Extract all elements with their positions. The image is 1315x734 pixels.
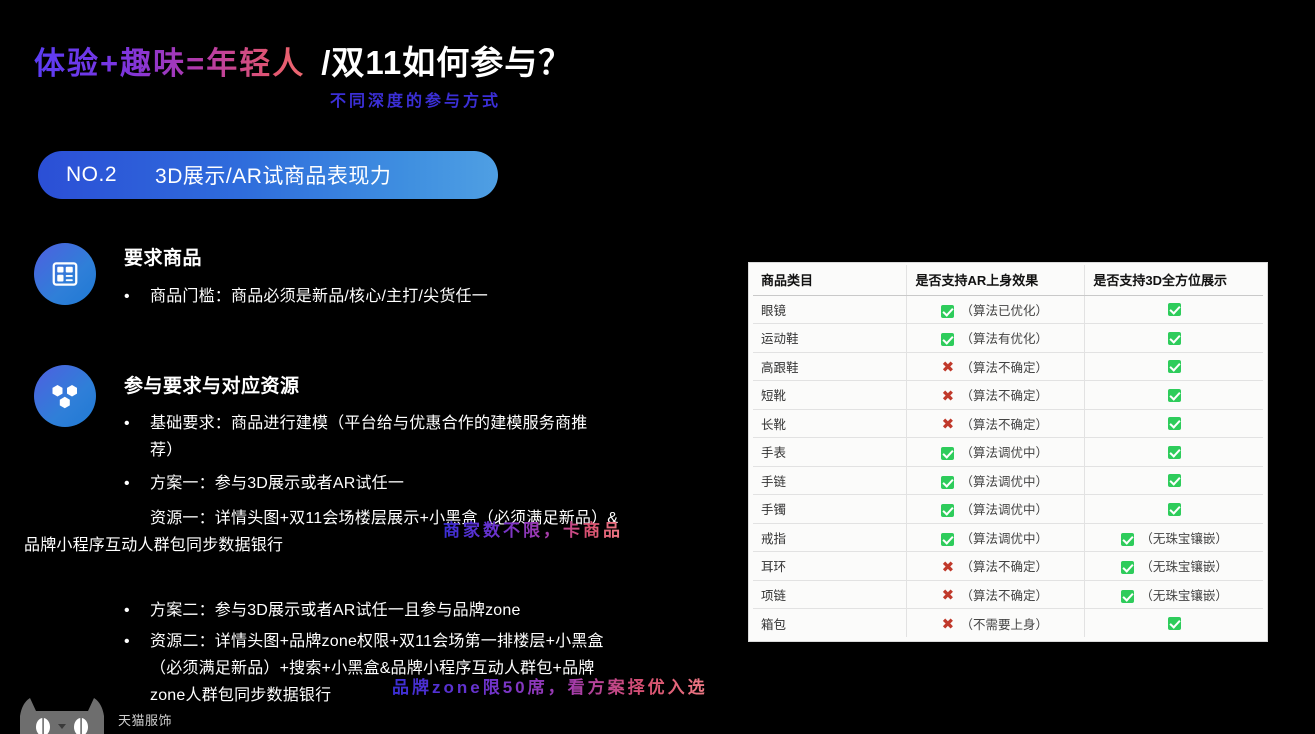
title-accent: 体验+趣味=年轻人: [34, 38, 305, 83]
cell-ar-note: （算法调优中）: [960, 532, 1048, 546]
cell-ar-support: （算法不确定）: [907, 580, 1085, 609]
check-icon: [941, 305, 954, 318]
badge-number: NO.2: [66, 163, 117, 187]
cell-3d-support: [1085, 609, 1263, 638]
table-row: 运动鞋（算法有优化）: [753, 324, 1263, 353]
bullet-text: 方案二：参与3D展示或者AR试任一且参与品牌zone: [150, 597, 744, 624]
th-ar-support: 是否支持AR上身效果: [907, 265, 1085, 295]
check-icon: [1168, 446, 1181, 459]
cross-icon: [941, 361, 954, 375]
page-title: 体验+趣味=年轻人 /双11如何参与？: [34, 36, 572, 84]
hexagon-cluster-icon: [34, 365, 96, 427]
check-icon: [1121, 590, 1134, 603]
cell-ar-support: （算法有优化）: [907, 324, 1085, 353]
check-icon: [1168, 360, 1181, 373]
cell-ar-note: （算法不确定）: [960, 361, 1048, 375]
cell-ar-note: （算法不确定）: [960, 560, 1048, 574]
section-title-1: 要求商品: [124, 243, 202, 270]
cross-icon: [941, 390, 954, 404]
cell-ar-support: （算法调优中）: [907, 438, 1085, 467]
cell-ar-note: （算法已优化）: [960, 304, 1048, 318]
resource-one-line-2: 品牌小程序互动人群包同步数据银行: [24, 532, 283, 559]
cell-category: 短靴: [753, 381, 907, 410]
cell-category: 手链: [753, 466, 907, 495]
bullet-text: 基础要求：商品进行建模（平台给与优惠合作的建模服务商推: [150, 410, 724, 437]
cell-ar-support: （算法不确定）: [907, 352, 1085, 381]
bullet-item: • 商品门槛：商品必须是新品/核心/主打/尖货任一: [124, 283, 744, 310]
slide-root: 体验+趣味=年轻人 /双11如何参与？ 不同深度的参与方式 NO.2 3D展示/…: [0, 0, 1315, 734]
bullet-text: 方案一：参与3D展示或者AR试任一: [150, 470, 724, 497]
cell-ar-support: （算法调优中）: [907, 523, 1085, 552]
support-table: 商品类目 是否支持AR上身效果 是否支持3D全方位展示 眼镜（算法已优化）运动鞋…: [753, 265, 1263, 637]
bullet-text: 资源二：详情头图+品牌zone权限+双11会场第一排楼层+小黑盒: [150, 628, 744, 655]
cell-category: 高跟鞋: [753, 352, 907, 381]
check-icon: [1121, 561, 1134, 574]
cell-3d-support: [1085, 438, 1263, 467]
cell-category: 眼镜: [753, 295, 907, 324]
cell-ar-note: （算法调优中）: [960, 503, 1048, 517]
check-icon: [1168, 503, 1181, 516]
cell-category: 项链: [753, 580, 907, 609]
cell-ar-note: （算法有优化）: [960, 332, 1048, 346]
cell-3d-support: [1085, 324, 1263, 353]
table-body: 眼镜（算法已优化）运动鞋（算法有优化）高跟鞋（算法不确定）短靴（算法不确定）长靴…: [753, 295, 1263, 637]
table-row: 长靴（算法不确定）: [753, 409, 1263, 438]
cell-ar-note: （算法调优中）: [960, 446, 1048, 460]
cell-ar-support: （算法已优化）: [907, 295, 1085, 324]
check-icon: [941, 476, 954, 489]
table-header: 商品类目 是否支持AR上身效果 是否支持3D全方位展示: [753, 265, 1263, 295]
cell-3d-support: [1085, 466, 1263, 495]
table-row: 手链（算法调优中）: [753, 466, 1263, 495]
bullet-dot: •: [124, 628, 150, 655]
cell-3d-support: [1085, 409, 1263, 438]
bullet-dot: •: [124, 283, 150, 310]
bullet-dot: •: [124, 410, 150, 437]
check-icon: [941, 333, 954, 346]
table-row: 短靴（算法不确定）: [753, 381, 1263, 410]
cell-3d-support: （无珠宝镶嵌）: [1085, 523, 1263, 552]
table-row: 项链（算法不确定）（无珠宝镶嵌）: [753, 580, 1263, 609]
cell-3d-support: [1085, 352, 1263, 381]
cell-ar-note: （算法调优中）: [960, 475, 1048, 489]
ar-3d-support-table: 商品类目 是否支持AR上身效果 是否支持3D全方位展示 眼镜（算法已优化）运动鞋…: [748, 262, 1268, 642]
table-row: 戒指（算法调优中）（无珠宝镶嵌）: [753, 523, 1263, 552]
cell-category: 手镯: [753, 495, 907, 524]
check-icon: [1168, 389, 1181, 402]
title-main: /双11如何参与？: [321, 36, 572, 84]
check-icon: [1121, 533, 1134, 546]
bullet-text: 商品门槛：商品必须是新品/核心/主打/尖货任一: [150, 283, 744, 310]
cell-ar-note: （算法不确定）: [960, 389, 1048, 403]
resource-two-line-3: zone人群包同步数据银行: [150, 682, 331, 709]
check-icon: [1168, 474, 1181, 487]
check-icon: [941, 447, 954, 460]
cell-ar-note: （算法不确定）: [960, 418, 1048, 432]
cell-3d-support: [1085, 381, 1263, 410]
check-icon: [1168, 617, 1181, 630]
cell-3d-support: （无珠宝镶嵌）: [1085, 580, 1263, 609]
section-title-2: 参与要求与对应资源: [124, 371, 300, 398]
table-header-row: 商品类目 是否支持AR上身效果 是否支持3D全方位展示: [753, 265, 1263, 295]
check-icon: [941, 504, 954, 517]
cell-category: 箱包: [753, 609, 907, 638]
cell-3d-support: [1085, 495, 1263, 524]
check-icon: [1168, 332, 1181, 345]
tmall-cat-logo: [14, 694, 110, 734]
layout-dashboard-icon: [34, 243, 96, 305]
overlay-note-1: 商家数不限，卡商品: [443, 516, 623, 541]
table-row: 手镯（算法调优中）: [753, 495, 1263, 524]
table-row: 耳环（算法不确定）（无珠宝镶嵌）: [753, 552, 1263, 581]
cross-icon: [941, 618, 954, 632]
cell-3d-note: （无珠宝镶嵌）: [1140, 532, 1228, 546]
bullet-item: • 方案一：参与3D展示或者AR试任一: [124, 470, 724, 497]
cross-icon: [941, 418, 954, 432]
th-category: 商品类目: [753, 265, 907, 295]
cell-ar-note: （不需要上身）: [960, 618, 1048, 632]
bullet-item: • 方案二：参与3D展示或者AR试任一且参与品牌zone: [124, 597, 744, 624]
bullet-continuation: 荐）: [150, 437, 182, 464]
cell-category: 耳环: [753, 552, 907, 581]
bullet-dot: •: [124, 597, 150, 624]
table-row: 高跟鞋（算法不确定）: [753, 352, 1263, 381]
overlay-note-2: 品牌zone限50席，看方案择优入选: [392, 673, 708, 698]
cell-ar-support: （算法不确定）: [907, 409, 1085, 438]
cell-ar-support: （算法不确定）: [907, 552, 1085, 581]
cell-3d-note: （无珠宝镶嵌）: [1140, 589, 1228, 603]
footer-label: 天猫服饰: [118, 710, 172, 729]
cell-3d-support: （无珠宝镶嵌）: [1085, 552, 1263, 581]
cell-3d-support: [1085, 295, 1263, 324]
footer: 天猫服饰: [14, 694, 172, 734]
cell-category: 长靴: [753, 409, 907, 438]
cross-icon: [941, 589, 954, 603]
cell-ar-support: （算法调优中）: [907, 466, 1085, 495]
th-3d-support: 是否支持3D全方位展示: [1085, 265, 1263, 295]
bullet-item: • 资源二：详情头图+品牌zone权限+双11会场第一排楼层+小黑盒: [124, 628, 744, 655]
cell-ar-support: （算法不确定）: [907, 381, 1085, 410]
cell-ar-note: （算法不确定）: [960, 589, 1048, 603]
cell-category: 戒指: [753, 523, 907, 552]
bullet-item: • 基础要求：商品进行建模（平台给与优惠合作的建模服务商推: [124, 410, 724, 437]
cell-category: 运动鞋: [753, 324, 907, 353]
table-row: 箱包（不需要上身）: [753, 609, 1263, 638]
check-icon: [1168, 417, 1181, 430]
check-icon: [941, 533, 954, 546]
cell-ar-support: （不需要上身）: [907, 609, 1085, 638]
bullet-dot: •: [124, 470, 150, 497]
badge-label: 3D展示/AR试商品表现力: [155, 160, 391, 190]
cell-category: 手表: [753, 438, 907, 467]
cell-3d-note: （无珠宝镶嵌）: [1140, 560, 1228, 574]
section-badge: NO.2 3D展示/AR试商品表现力: [38, 151, 498, 199]
check-icon: [1168, 303, 1181, 316]
page-subtitle: 不同深度的参与方式: [330, 87, 501, 111]
table-row: 手表（算法调优中）: [753, 438, 1263, 467]
cell-ar-support: （算法调优中）: [907, 495, 1085, 524]
cross-icon: [941, 561, 954, 575]
table-row: 眼镜（算法已优化）: [753, 295, 1263, 324]
